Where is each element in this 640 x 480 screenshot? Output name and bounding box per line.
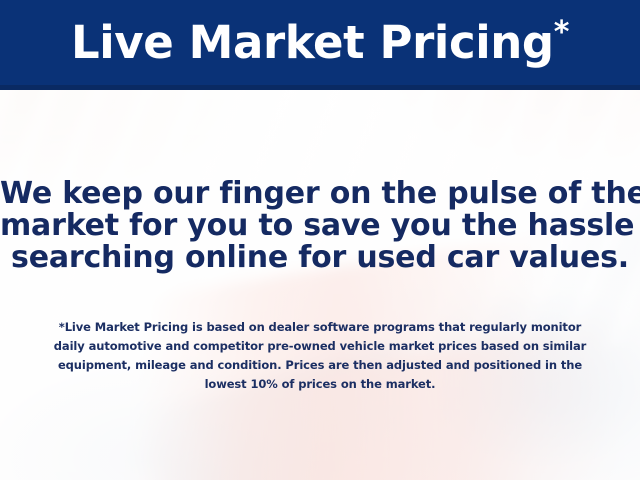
- disclaimer-line-2: daily automotive and competitor pre-owne…: [0, 337, 640, 356]
- disclaimer-block: *Live Market Pricing is based on dealer …: [0, 318, 640, 394]
- disclaimer-line-1: *Live Market Pricing is based on dealer …: [0, 318, 640, 337]
- headline-line-3: searching online for used car values.: [0, 242, 640, 274]
- disclaimer-line-3: equipment, mileage and condition. Prices…: [0, 356, 640, 375]
- header-bar: Live Market Pricing*: [0, 0, 640, 90]
- page-title-text: Live Market Pricing: [71, 16, 554, 69]
- live-market-pricing-banner: Live Market Pricing* We keep our finger …: [0, 0, 640, 480]
- page-title: Live Market Pricing*: [71, 20, 569, 65]
- page-title-asterisk: *: [554, 15, 569, 50]
- disclaimer-line-4: lowest 10% of prices on the market.: [0, 375, 640, 394]
- headline-line-1: We keep our finger on the pulse of the: [0, 178, 640, 210]
- headline-line-2: market for you to save you the hassle of: [0, 210, 640, 242]
- headline-block: We keep our finger on the pulse of the m…: [0, 178, 640, 274]
